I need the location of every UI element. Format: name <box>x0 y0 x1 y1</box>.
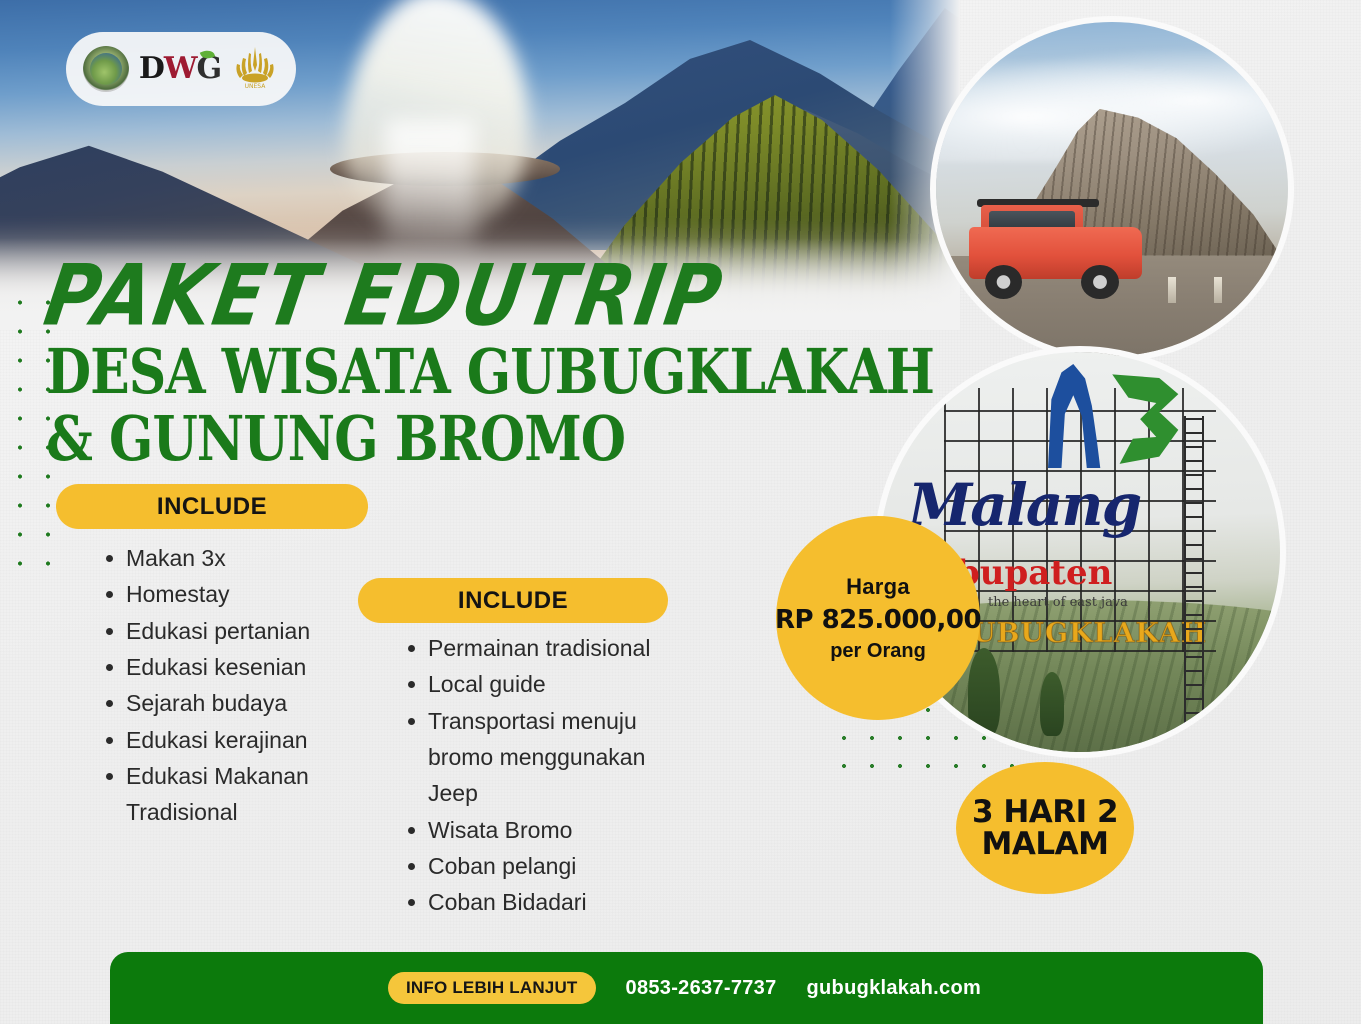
title-line-2: DESA WISATA GUBUGKLAKAH <box>46 341 946 404</box>
malang-logo-green-shape <box>1108 374 1181 463</box>
duration-line-2: MALAM <box>982 828 1109 860</box>
red-jeep-icon <box>957 199 1154 299</box>
tree-icon <box>1040 672 1064 736</box>
jeep-wheel <box>1081 265 1118 299</box>
dwg-wordmark-logo: DWG <box>139 54 221 84</box>
village-name-text: GUBUGKLAKAH <box>948 620 1212 647</box>
list-item: Sejarah budaya <box>98 685 388 721</box>
dwg-letter-d: D <box>139 51 164 86</box>
list-item: Makan 3x <box>98 540 388 576</box>
marker-post <box>1214 277 1222 303</box>
poster-canvas: DWG UNESA PAKET EDUTRIP <box>0 0 1361 1024</box>
price-label: Harga <box>846 574 910 600</box>
title-line-3: & GUNUNG BROMO <box>46 408 946 471</box>
list-item: Edukasi kesenian <box>98 649 388 685</box>
svg-text:UNESA: UNESA <box>245 83 267 90</box>
list-item: Wisata Bromo <box>400 812 710 848</box>
duration-line-1: 3 HARI 2 <box>972 796 1118 828</box>
price-unit: per Orang <box>830 640 926 663</box>
list-item: Coban pelangi <box>400 848 710 884</box>
include-list-1: Makan 3x Homestay Edukasi pertanian Eduk… <box>98 540 388 831</box>
jeep-wheel <box>985 265 1022 299</box>
list-item: Homestay <box>98 576 388 612</box>
dwg-letter-w: W <box>164 51 197 86</box>
malang-logo-icon <box>1048 364 1184 468</box>
billboard-ladder <box>1184 416 1204 728</box>
list-item-continuation: Tradisional <box>98 794 388 830</box>
contact-phone[interactable]: 0853-2637-7737 <box>626 977 777 1000</box>
malang-city-text: Malang <box>908 476 1196 534</box>
price-badge: Harga RP 825.000,00 per Orang <box>776 516 980 720</box>
title-line-1: PAKET EDUTRIP <box>40 257 952 335</box>
info-cta-badge[interactable]: INFO LEBIH LANJUT <box>388 972 596 1004</box>
village-emblem-icon <box>83 46 129 92</box>
include-heading-2: INCLUDE <box>358 578 668 623</box>
contact-website[interactable]: gubugklakah.com <box>807 977 982 1000</box>
photo-circle-jeep <box>936 22 1288 356</box>
list-item: Edukasi kerajinan <box>98 722 388 758</box>
marker-post <box>1168 277 1176 303</box>
footer-bar: INFO LEBIH LANJUT 0853-2637-7737 gubugkl… <box>110 952 1263 1024</box>
include-heading-1: INCLUDE <box>56 484 368 529</box>
tree-icon <box>968 648 1000 736</box>
list-item: Permainan tradisional <box>400 630 710 666</box>
list-item: Coban Bidadari <box>400 884 710 920</box>
logo-bar: DWG UNESA <box>66 32 296 106</box>
unesa-emblem-icon: UNESA <box>231 45 279 93</box>
price-amount: RP 825.000,00 <box>775 605 981 635</box>
include-list-2: Permainan tradisional Local guide Transp… <box>400 630 710 921</box>
list-item: Edukasi Makanan <box>98 758 388 794</box>
list-item-continuation: bromo menggunakan <box>400 739 710 775</box>
page-title: PAKET EDUTRIP DESA WISATA GUBUGKLAKAH & … <box>46 262 946 466</box>
malang-regency-text: bupaten <box>956 556 1204 590</box>
duration-badge: 3 HARI 2 MALAM <box>956 762 1134 894</box>
malang-tagline-text: the heart of east java <box>988 596 1204 609</box>
list-item: Transportasi menuju <box>400 703 710 739</box>
list-item-continuation: Jeep <box>400 775 710 811</box>
list-item: Local guide <box>400 666 710 702</box>
list-item: Edukasi pertanian <box>98 613 388 649</box>
